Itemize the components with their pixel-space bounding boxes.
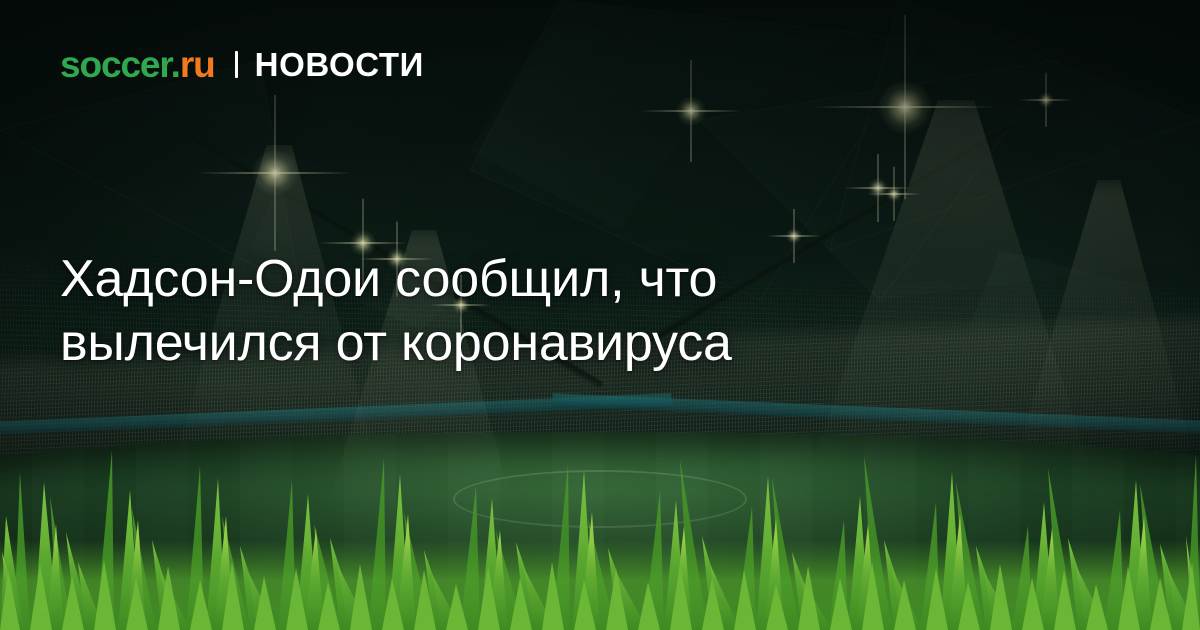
logo-tld-ru: ru <box>180 44 215 85</box>
logo-word-soccer: soccer <box>60 44 171 85</box>
content-layer: soccer.ru НОВОСТИ Хадсон-Одои сообщил, ч… <box>0 0 1200 630</box>
headline: Хадсон-Одои сообщил, что вылечился от ко… <box>60 247 920 375</box>
brand-bar: soccer.ru НОВОСТИ <box>60 46 424 83</box>
headline-line-2: вылечился от коронавируса <box>60 311 920 375</box>
headline-line-1: Хадсон-Одои сообщил, что <box>60 247 920 311</box>
soccer-ru-logo[interactable]: soccer.ru <box>60 46 215 83</box>
logo-dot: . <box>171 44 180 85</box>
brand-divider <box>235 51 238 78</box>
share-card: soccer.ru НОВОСТИ Хадсон-Одои сообщил, ч… <box>0 0 1200 630</box>
section-label-novosti: НОВОСТИ <box>255 48 424 81</box>
